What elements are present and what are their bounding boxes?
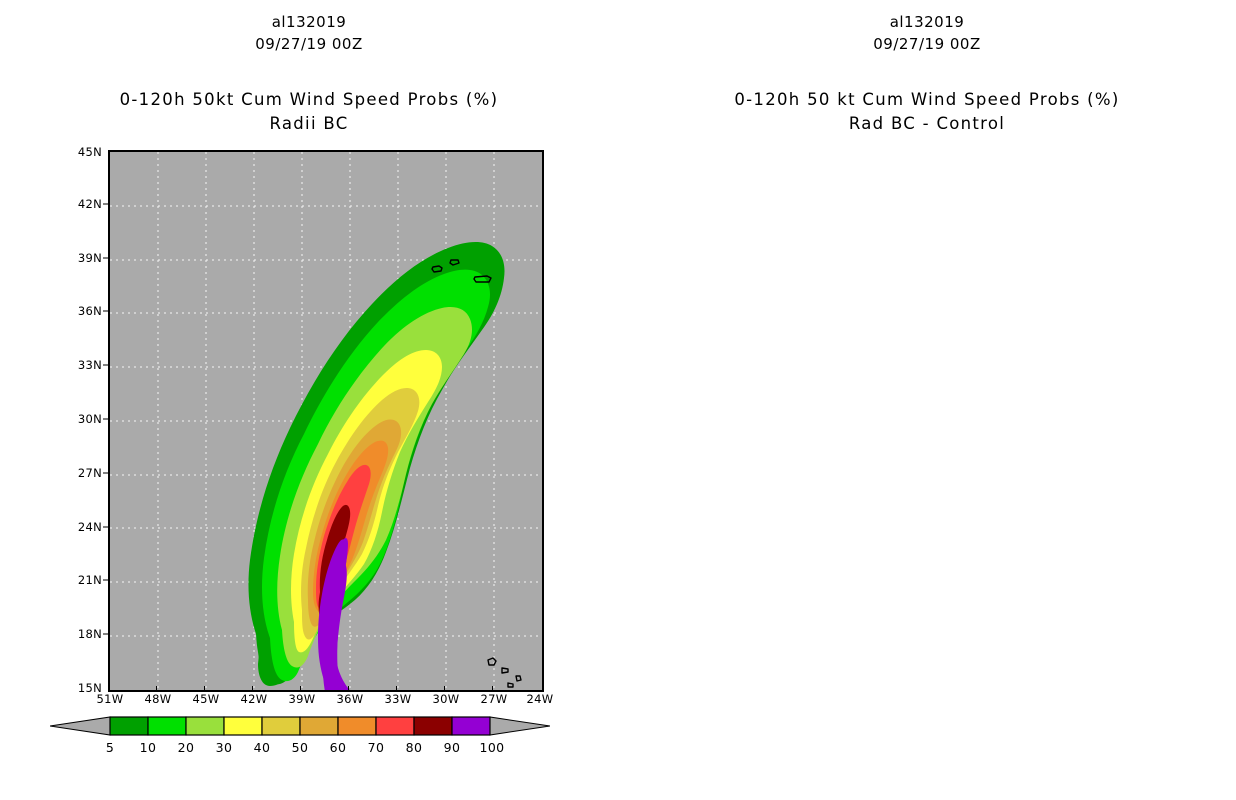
ytick-mark	[103, 204, 108, 205]
panel-left-header: al132019 09/27/19 00Z	[0, 12, 618, 56]
xtick-mark	[204, 686, 205, 691]
colorbar-tick-label: 90	[444, 740, 461, 755]
colorbar-tick-label: 70	[368, 740, 385, 755]
storm-id-right: al132019	[618, 12, 1236, 34]
ytick-mark	[103, 634, 108, 635]
xtick-label: 27W	[481, 692, 508, 706]
colorbar-tick-label: 20	[178, 740, 195, 755]
panel-left-title: 0-120h 50kt Cum Wind Speed Probs (%) Rad…	[0, 88, 618, 136]
ytick-label: 30N	[62, 412, 102, 426]
panel-right-header: al132019 09/27/19 00Z	[618, 12, 1236, 56]
xtick-mark	[444, 686, 445, 691]
probability-colorbar: 5 10 20 30 40 50 60 70 80 90 100	[50, 714, 550, 760]
colorbar-tick-label: 50	[292, 740, 309, 755]
xtick-label: 33W	[385, 692, 412, 706]
xtick-label: 30W	[433, 692, 460, 706]
ytick-mark	[103, 580, 108, 581]
xtick-mark	[252, 686, 253, 691]
xtick-mark	[348, 686, 349, 691]
colorbar-tick-label: 100	[479, 740, 504, 755]
panel-title-line1-left: 0-120h 50kt Cum Wind Speed Probs (%)	[0, 88, 618, 112]
ytick-label: 39N	[62, 251, 102, 265]
panel-right-title: 0-120h 50 kt Cum Wind Speed Probs (%) Ra…	[618, 88, 1236, 136]
xtick-label: 24W	[527, 692, 554, 706]
panel-title-line2-left: Radii BC	[0, 112, 618, 136]
ytick-mark	[103, 365, 108, 366]
storm-id-left: al132019	[0, 12, 618, 34]
xtick-mark	[300, 686, 301, 691]
xtick-label: 51W	[97, 692, 124, 706]
colorbar-tick-label: 80	[406, 740, 423, 755]
coastlines-left	[110, 152, 542, 690]
colorbar-tick-label: 40	[254, 740, 271, 755]
ytick-label: 18N	[62, 627, 102, 641]
panel-title-line1-right: 0-120h 50 kt Cum Wind Speed Probs (%)	[618, 88, 1236, 112]
xtick-label: 45W	[193, 692, 220, 706]
panel-radii-bc: al132019 09/27/19 00Z 0-120h 50kt Cum Wi…	[0, 0, 618, 800]
xtick-label: 36W	[337, 692, 364, 706]
ytick-label: 33N	[62, 358, 102, 372]
ytick-label: 45N	[62, 145, 102, 159]
map-plot-left	[108, 150, 544, 692]
ytick-mark	[103, 473, 108, 474]
ytick-mark	[103, 419, 108, 420]
xtick-mark	[492, 686, 493, 691]
ytick-mark	[103, 258, 108, 259]
ytick-label: 36N	[62, 304, 102, 318]
ytick-mark	[103, 311, 108, 312]
xtick-label: 39W	[289, 692, 316, 706]
colorbar-tick-label: 5	[106, 740, 114, 755]
colorbar-tick-label: 10	[140, 740, 157, 755]
probability-colorbar-swatches	[50, 714, 550, 738]
ytick-label: 21N	[62, 573, 102, 587]
xtick-label: 48W	[145, 692, 172, 706]
wind-speed-probability-figure: al132019 09/27/19 00Z 0-120h 50kt Cum Wi…	[0, 0, 1236, 800]
xtick-mark	[156, 686, 157, 691]
cycle-time-right: 09/27/19 00Z	[618, 34, 1236, 56]
cycle-time-left: 09/27/19 00Z	[0, 34, 618, 56]
xtick-mark	[396, 686, 397, 691]
ytick-label: 27N	[62, 466, 102, 480]
ytick-label: 24N	[62, 520, 102, 534]
panel-title-line2-right: Rad BC - Control	[618, 112, 1236, 136]
colorbar-tick-label: 30	[216, 740, 233, 755]
xtick-label: 42W	[241, 692, 268, 706]
colorbar-tick-label: 60	[330, 740, 347, 755]
panel-rad-bc-minus-control: al132019 09/27/19 00Z 0-120h 50 kt Cum W…	[618, 0, 1236, 800]
ytick-label: 42N	[62, 197, 102, 211]
ytick-mark	[103, 527, 108, 528]
